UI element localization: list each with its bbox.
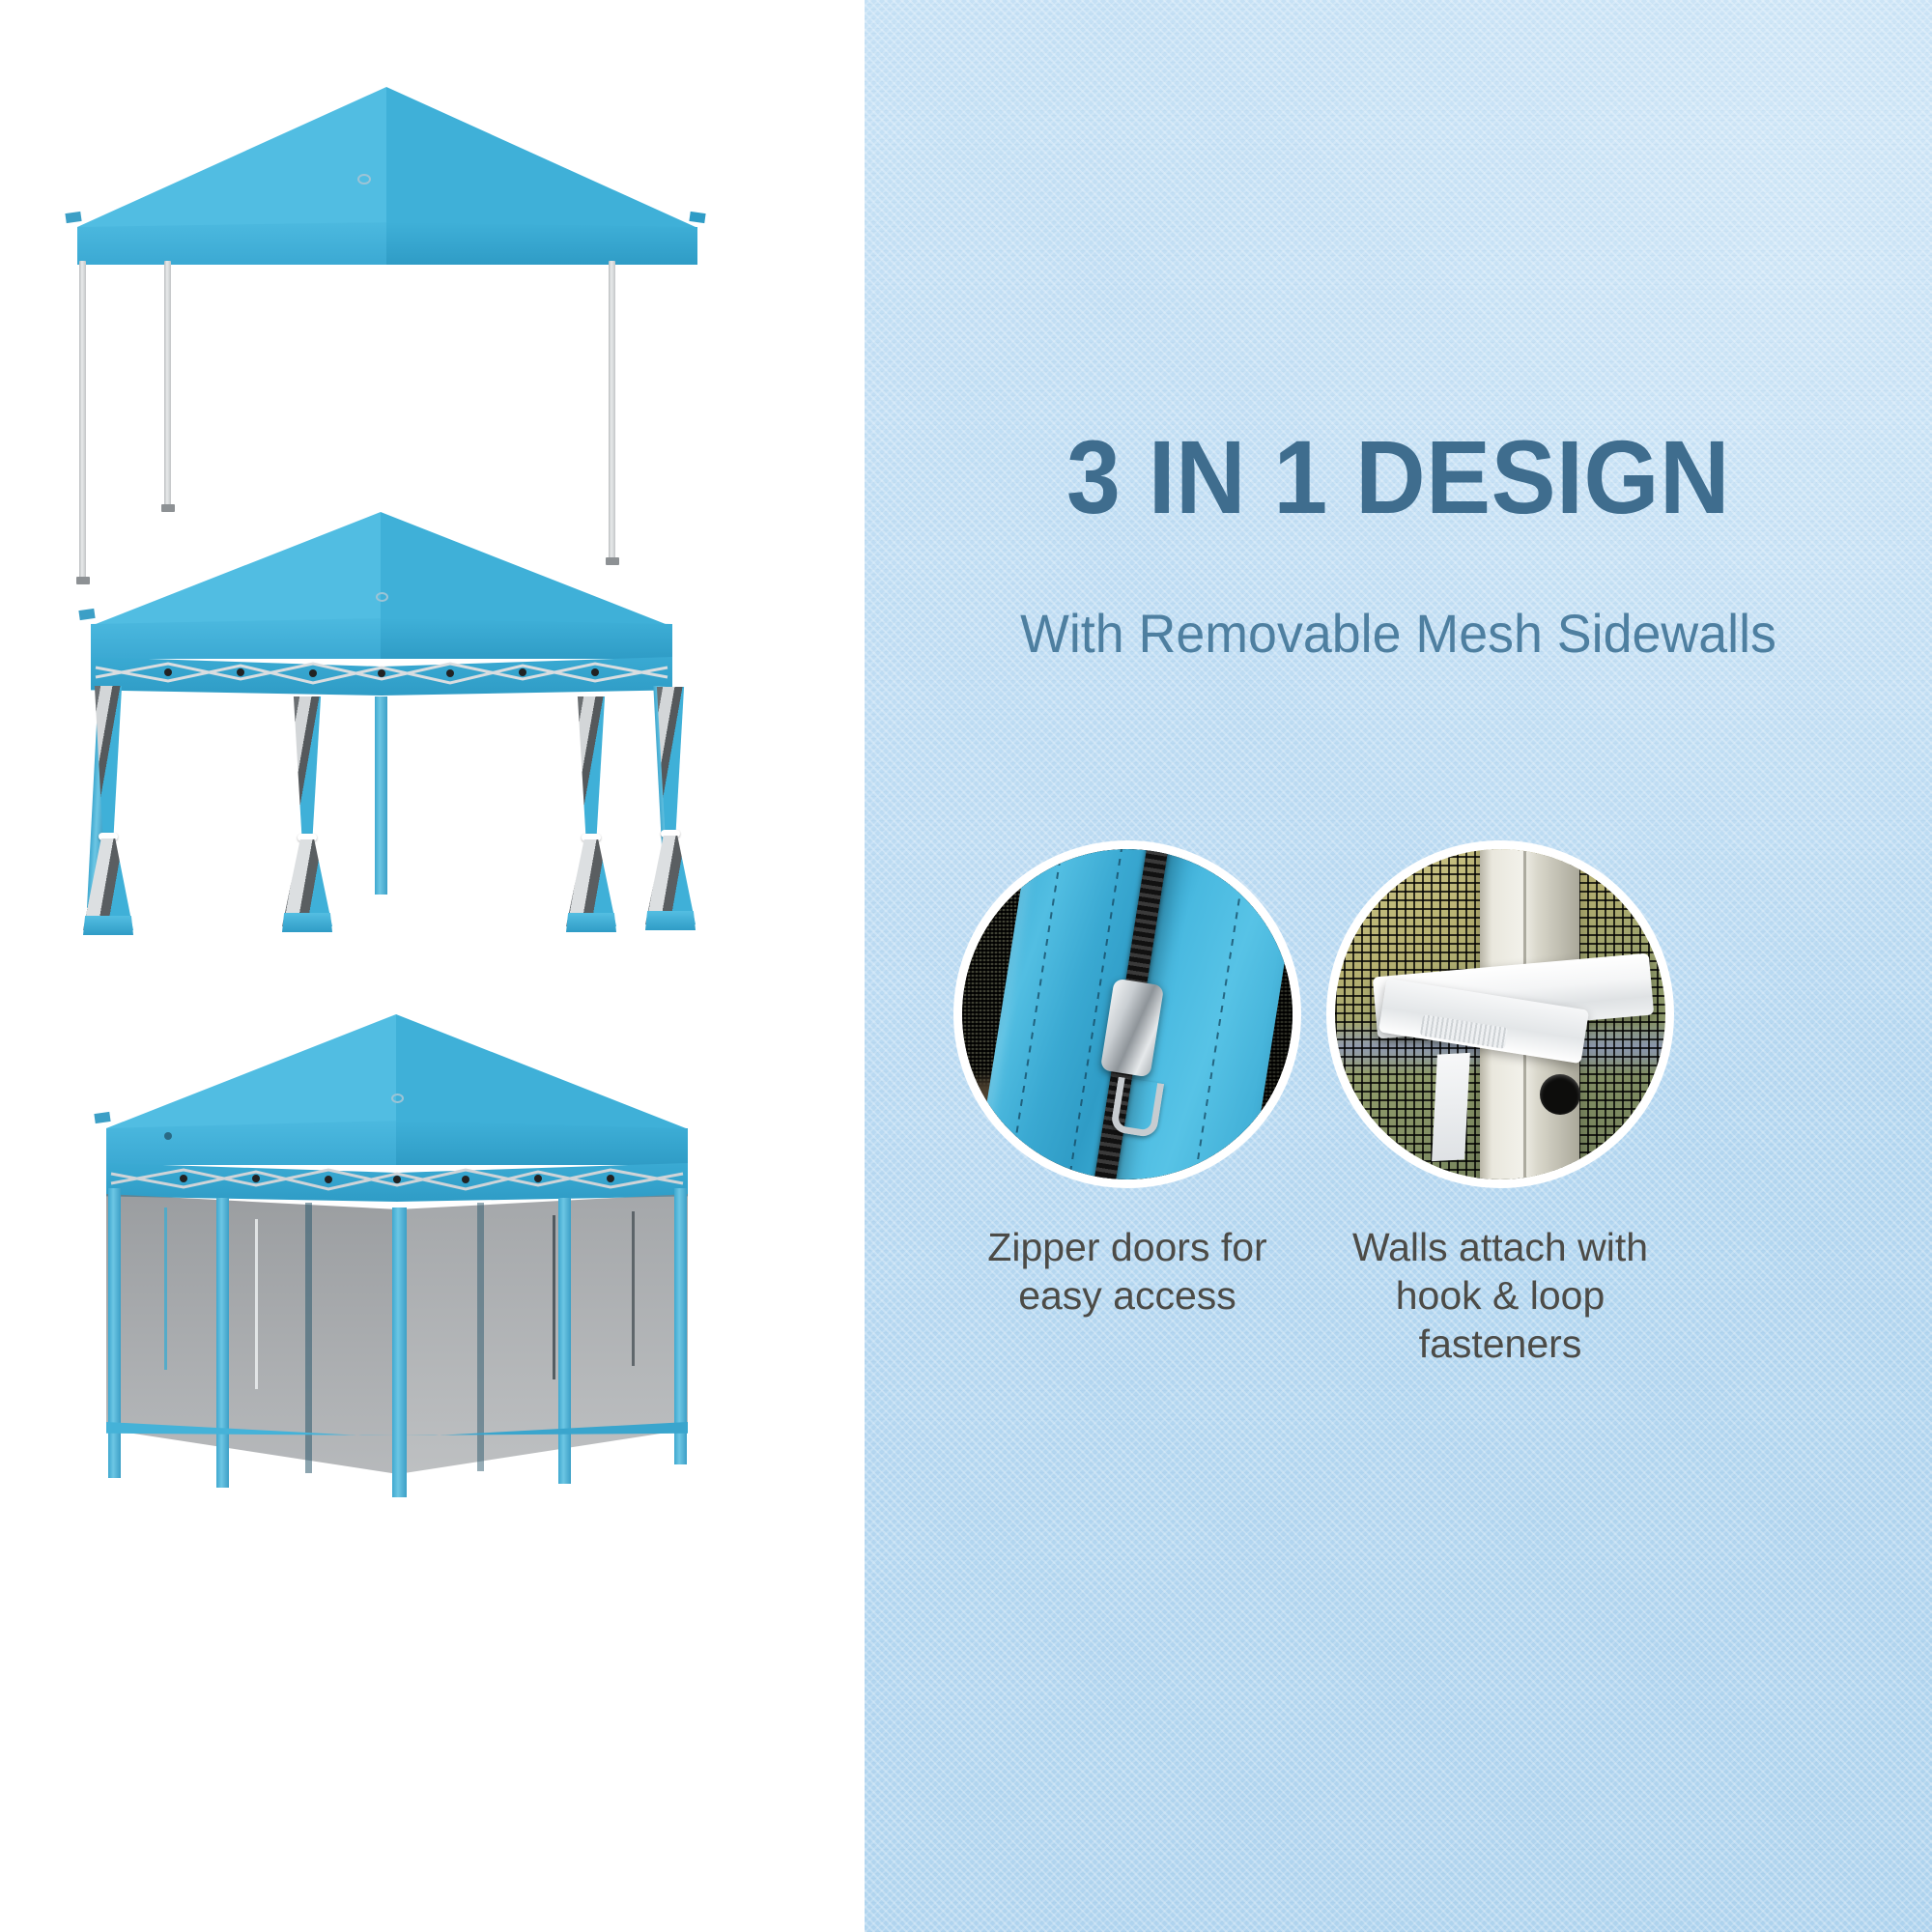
closed-wall-tie bbox=[632, 1211, 635, 1366]
canopy-roof-left-plane bbox=[77, 87, 386, 227]
gazebo-walls-closed bbox=[56, 1005, 829, 1507]
strap-loose-tail bbox=[1432, 1053, 1470, 1161]
closed-truss-diamonds bbox=[106, 1160, 688, 1205]
canopy-vent-eyelet bbox=[357, 174, 371, 185]
closed-leg-center bbox=[392, 1207, 407, 1497]
tied-curtain-bundle bbox=[81, 686, 135, 937]
page-subtitle: With Removable Mesh Sidewalls bbox=[886, 604, 1911, 664]
canopy-roof-right-plane bbox=[386, 87, 696, 227]
hook-loop-photo-inner bbox=[1335, 849, 1665, 1179]
zipper-closeup-photo bbox=[953, 840, 1301, 1188]
tied-truss-diamonds bbox=[91, 654, 672, 698]
closed-wall-tie bbox=[164, 1207, 167, 1370]
tied-curtain-bundle bbox=[564, 696, 618, 938]
closed-roof-left-plane bbox=[106, 1014, 396, 1128]
caption-line-1: Walls attach with bbox=[1326, 1223, 1674, 1271]
feature-hook-and-loop: Walls attach with hook & loop fasteners bbox=[1326, 840, 1674, 1368]
closed-fascia-right bbox=[396, 1121, 688, 1165]
page-title: 3 IN 1 DESIGN bbox=[902, 425, 1895, 529]
caption-line-2: easy access bbox=[953, 1271, 1301, 1320]
closed-leg-left-mid bbox=[216, 1198, 229, 1488]
caption-line-2: hook & loop fasteners bbox=[1326, 1271, 1674, 1368]
tied-fascia-right bbox=[381, 618, 672, 659]
tied-curtain-bundle bbox=[643, 687, 697, 936]
zipper-photo-inner bbox=[962, 849, 1293, 1179]
hook-loop-scene bbox=[1335, 849, 1665, 1179]
feature-caption: Zipper doors for easy access bbox=[953, 1223, 1301, 1320]
product-infographic: 3 IN 1 DESIGN With Removable Mesh Sidewa… bbox=[0, 0, 1932, 1932]
hook-and-loop-fastener-closeup-photo bbox=[1326, 840, 1674, 1188]
product-views-column bbox=[0, 0, 865, 1932]
gazebo-walls-tied-back bbox=[60, 507, 823, 952]
marketing-info-panel: 3 IN 1 DESIGN With Removable Mesh Sidewa… bbox=[865, 0, 1932, 1932]
closed-fascia-left bbox=[106, 1121, 398, 1165]
closed-wall-tie bbox=[255, 1219, 258, 1389]
canopy-corner-tab-right bbox=[689, 212, 705, 223]
tied-fascia-left bbox=[91, 618, 383, 659]
closed-roof-grommet bbox=[164, 1132, 172, 1140]
feature-caption: Walls attach with hook & loop fasteners bbox=[1326, 1223, 1674, 1368]
feature-zipper-door: Zipper doors for easy access bbox=[953, 840, 1301, 1320]
tied-roof-left-plane bbox=[91, 512, 381, 626]
tied-leg-center bbox=[375, 696, 387, 895]
closed-leg-right-mid bbox=[558, 1198, 571, 1484]
tied-vent-eyelet bbox=[376, 592, 388, 602]
zipper-scene bbox=[962, 849, 1293, 1179]
caption-line-1: Zipper doors for bbox=[953, 1223, 1301, 1271]
closed-vent-eyelet bbox=[391, 1094, 404, 1103]
canopy-fascia-right bbox=[386, 222, 697, 265]
tied-curtain-bundle bbox=[280, 696, 334, 938]
tied-roof-right-plane bbox=[381, 512, 670, 626]
closed-leg-far-left bbox=[108, 1188, 121, 1478]
canopy-leg-center bbox=[164, 261, 171, 507]
closed-wall-tie bbox=[553, 1215, 555, 1379]
canopy-fascia-left bbox=[77, 222, 388, 265]
closed-interior-leg bbox=[477, 1203, 484, 1471]
pole-adjustment-hole bbox=[1540, 1074, 1580, 1115]
closed-roof-right-plane bbox=[396, 1014, 686, 1128]
